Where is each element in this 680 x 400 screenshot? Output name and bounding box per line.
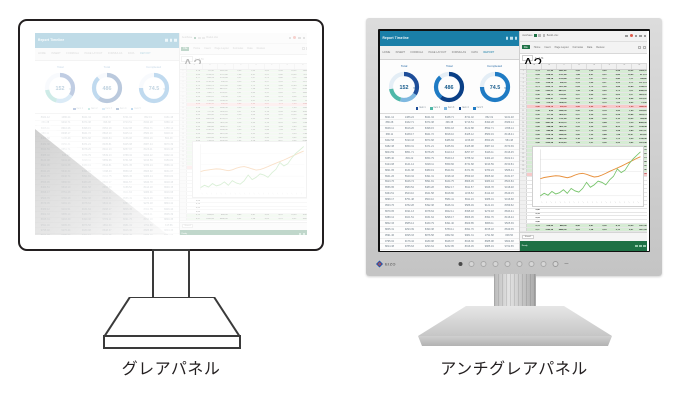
excel-cell[interactable]: 1927,57 (297, 126, 307, 128)
excel-cell[interactable]: 148,71 (201, 92, 215, 94)
dashboard-tab-4[interactable]: FORMULAS (108, 52, 122, 55)
excel-tab-page-layout[interactable]: Page Layout (215, 47, 229, 50)
ribbon-right-controls[interactable] (302, 47, 307, 50)
excel-cell[interactable]: 2,53 (242, 118, 256, 120)
excel-cell[interactable]: 1236,18 (541, 134, 554, 136)
dashboard-tab-1[interactable]: INSERT (396, 51, 405, 54)
osd-button-2[interactable] (481, 261, 487, 267)
excel-cell[interactable]: 0,74 (270, 96, 284, 98)
save-icon[interactable] (534, 34, 537, 37)
excel-cell[interactable]: 5,30 (621, 122, 634, 124)
excel-cell[interactable]: 2581,45 (215, 70, 229, 72)
excel-cell[interactable]: 0,30 (594, 118, 607, 120)
excel-cell[interactable]: 0,05 (594, 130, 607, 132)
excel-cell[interactable]: 588,14 (201, 77, 215, 79)
excel-cell[interactable]: 0,41 (242, 214, 256, 216)
excel-cell[interactable]: 1236,10 (541, 106, 554, 108)
share-icon[interactable] (638, 46, 641, 49)
excel-row-number[interactable]: 13 (180, 114, 187, 117)
excel-cell[interactable]: 0,31 (594, 94, 607, 96)
excel-cell[interactable]: 0,66 (187, 200, 201, 202)
excel-cell[interactable]: 0,62 (283, 137, 297, 139)
excel-cell[interactable]: 1371,79 (634, 82, 647, 84)
excel-cell[interactable]: 0,73 (527, 86, 540, 88)
excel-cell[interactable]: 0,30 (242, 111, 256, 113)
excel-cell[interactable]: 891,81 (297, 129, 307, 131)
minimize-icon[interactable] (165, 39, 168, 42)
osd-button-5[interactable] (517, 261, 523, 267)
excel-cell[interactable]: 0,66 (187, 88, 201, 90)
excel-cell[interactable]: 5,23 (567, 82, 580, 84)
excel-cell[interactable]: 0,28 (270, 111, 284, 113)
excel-cell[interactable]: 4419,57 (215, 88, 229, 90)
excel-cell[interactable]: 1050,91 (201, 96, 215, 98)
dashboard-window-controls[interactable] (506, 37, 518, 40)
view-break-icon[interactable] (643, 245, 646, 247)
excel-cell[interactable]: 0,27 (594, 82, 607, 84)
excel-cell[interactable]: 5,00 (228, 107, 242, 109)
excel-cell[interactable]: 1371,79 (297, 81, 307, 83)
excel-cell[interactable]: 0,66 (527, 209, 540, 211)
excel-cell[interactable]: 2,07 (567, 94, 580, 96)
excel-cell[interactable]: 1198,04 (297, 122, 307, 124)
excel-cell[interactable]: 0,15 (527, 213, 540, 215)
excel-cell[interactable]: 2,01 (228, 96, 242, 98)
excel-cell[interactable]: 1565,08 (541, 142, 554, 144)
excel-cell[interactable]: 1603,79 (634, 114, 647, 116)
excel-cell[interactable]: 0,77 (527, 78, 540, 80)
excel-row-number[interactable] (520, 205, 527, 208)
excel-cell[interactable]: 6,01 (621, 229, 634, 231)
excel-cell[interactable]: 3,54 (270, 126, 284, 128)
excel-row-number[interactable]: 15 (180, 121, 187, 124)
excel-cell[interactable]: 1515,91 (634, 98, 647, 100)
excel-cell[interactable]: 1602,63 (554, 114, 567, 116)
excel-cell[interactable]: 5,11 (621, 90, 634, 92)
excel-cell[interactable]: 5,00 (567, 110, 580, 112)
excel-cell[interactable]: 2,07 (228, 92, 242, 94)
excel-cell[interactable]: 1,90 (621, 110, 634, 112)
excel-cell[interactable]: 1363,01 (541, 90, 554, 92)
view-layout-icon[interactable] (303, 233, 306, 235)
excel-cell[interactable]: 0,56 (187, 92, 201, 94)
excel-cell[interactable]: 5,21 (228, 77, 242, 79)
excel-row-number[interactable] (180, 207, 187, 210)
excel-cell[interactable]: 1,07 (581, 78, 594, 80)
excel-cell[interactable]: 398,42 (297, 77, 307, 79)
excel-window-controls[interactable] (625, 34, 646, 37)
excel-cell[interactable]: 1481,54 (201, 118, 215, 120)
excel-cell[interactable]: 1136,39 (541, 82, 554, 84)
excel-cell[interactable]: 364,04 (634, 118, 647, 120)
excel-cell[interactable]: 1603,79 (297, 111, 307, 113)
excel-formula-bar[interactable]: A2 fx 0.74 (180, 55, 307, 64)
excel-row-number[interactable]: 15 (520, 125, 527, 128)
excel-cell[interactable]: 1,22 (242, 129, 256, 131)
excel-cell[interactable]: 117,30 (201, 111, 215, 113)
excel-row-number[interactable]: 16 (520, 129, 527, 132)
excel-row[interactable]: 0,271285,588646,582,011,540,035,126,0118… (520, 228, 647, 232)
excel-cell[interactable]: 5,07 (228, 111, 242, 113)
excel-cell[interactable]: 4,10 (270, 214, 284, 216)
excel-col-header-H[interactable]: H (295, 64, 307, 68)
excel-cell[interactable]: 1,11 (228, 118, 242, 120)
excel-cell[interactable]: 0,74 (527, 70, 540, 72)
minimize-icon[interactable] (635, 35, 637, 37)
excel-cell[interactable]: 1,01 (242, 137, 256, 139)
excel-cell[interactable]: 0,52 (187, 114, 201, 116)
excel-cell[interactable]: 2750,64 (215, 77, 229, 79)
excel-cell[interactable]: 2288,96 (215, 129, 229, 131)
excel-cell[interactable]: 12,07 (283, 129, 297, 131)
excel-row-number[interactable] (520, 209, 527, 212)
excel-cell[interactable]: 2,75 (607, 90, 620, 92)
excel-cell[interactable]: 4705,83 (554, 142, 567, 144)
excel-cell[interactable]: 3,03 (242, 107, 256, 109)
excel-row-number[interactable] (180, 218, 187, 221)
excel-tab-review[interactable]: Review (596, 46, 604, 49)
excel-cell[interactable]: 488,00 (541, 138, 554, 140)
excel-cell[interactable]: 0,06 (242, 114, 256, 116)
excel-cell[interactable]: 1,50 (283, 103, 297, 105)
excel-cell[interactable]: 0,15 (187, 203, 201, 205)
excel-cell[interactable]: 2,60 (567, 134, 580, 136)
excel-row-number[interactable]: 23 (520, 157, 527, 160)
excel-cell[interactable]: 1057,90 (297, 214, 307, 216)
excel-col-header-D[interactable]: D (572, 64, 587, 69)
excel-row-number[interactable]: 6 (520, 89, 527, 92)
excel-cell[interactable]: 7401,58 (554, 126, 567, 128)
excel-row-number[interactable]: 13 (520, 117, 527, 120)
sheet-tab[interactable]: Sheet1 (522, 235, 534, 239)
maximize-icon[interactable] (510, 37, 513, 40)
excel-cell[interactable]: 1786,08 (297, 133, 307, 135)
excel-cell[interactable]: 1791,68 (215, 114, 229, 116)
search-icon[interactable] (625, 35, 627, 37)
excel-row-number[interactable] (520, 216, 527, 219)
excel-row-number[interactable]: 22 (520, 153, 527, 156)
excel-col-header-D[interactable]: D (234, 64, 249, 68)
excel-cell[interactable]: 10,22 (283, 70, 297, 72)
excel-cell[interactable]: 0,26 (187, 111, 201, 113)
excel-row-number[interactable]: 27 (520, 173, 527, 176)
excel-cell[interactable]: 1565,08 (201, 137, 215, 139)
excel-cell[interactable]: 1602,63 (215, 111, 229, 113)
excel-cell[interactable]: 846,48 (201, 126, 215, 128)
excel-cell[interactable]: 4,45 (228, 214, 242, 216)
excel-cell[interactable]: 0,66 (187, 103, 201, 105)
share-icon[interactable] (302, 47, 305, 50)
excel-cell[interactable]: 0,58 (607, 70, 620, 72)
search-icon[interactable] (289, 37, 291, 39)
excel-cell[interactable]: 1903,81 (634, 110, 647, 112)
excel-cell[interactable]: 1,07 (242, 77, 256, 79)
excel-cell[interactable]: 0,65 (594, 90, 607, 92)
excel-row-number[interactable]: 24 (520, 161, 527, 164)
osd-button-1[interactable] (469, 261, 475, 267)
excel-cell[interactable]: 0,41 (581, 225, 594, 227)
undo-icon[interactable] (198, 37, 201, 40)
excel-col-header-G[interactable]: G (280, 64, 295, 68)
excel-tab-insert[interactable]: Insert (204, 47, 210, 50)
excel-cell[interactable]: 2812,58 (554, 138, 567, 140)
excel-cell[interactable]: 846,48 (541, 130, 554, 132)
excel-tab-home[interactable]: Home (194, 47, 201, 50)
excel-cell[interactable]: 0,40 (594, 98, 607, 100)
excel-cell[interactable]: 1,05 (242, 70, 256, 72)
excel-cell[interactable]: 4419,57 (554, 90, 567, 92)
excel-row-number[interactable] (180, 203, 187, 206)
excel-cell[interactable]: 588,14 (541, 78, 554, 80)
excel-cell[interactable]: 0,40 (607, 78, 620, 80)
excel-cell[interactable]: 0,28 (607, 114, 620, 116)
excel-cell[interactable]: 7,57 (270, 118, 284, 120)
excel-cell[interactable]: 0,51 (256, 74, 270, 76)
osd-button-4[interactable] (505, 261, 511, 267)
excel-cell[interactable]: 2,85 (228, 103, 242, 105)
excel-col-header-H[interactable]: H (632, 64, 647, 69)
excel-row-number[interactable]: 18 (520, 137, 527, 140)
excel-cell[interactable]: 0,50 (283, 122, 297, 124)
excel-cell[interactable]: 10,95 (621, 74, 634, 76)
excel-cell[interactable]: 1,88 (228, 74, 242, 76)
excel-cell[interactable]: 0,89 (527, 74, 540, 76)
excel-cell[interactable]: 6,91 (581, 74, 594, 76)
excel-cell[interactable]: 1,28 (567, 142, 580, 144)
excel-cell[interactable]: 844,04 (201, 122, 215, 124)
excel-cell[interactable]: 905,90 (201, 114, 215, 116)
comments-icon[interactable] (306, 47, 307, 50)
comments-icon[interactable] (643, 46, 646, 49)
excel-cell[interactable]: 0,65 (256, 88, 270, 90)
excel-cell[interactable]: 5,10 (607, 118, 620, 120)
excel-cell[interactable]: 1236,10 (201, 103, 215, 105)
excel-cell[interactable]: 4759,15 (554, 122, 567, 124)
excel-cell[interactable]: 1285,58 (541, 229, 554, 231)
excel-cell[interactable]: 0,86 (270, 74, 284, 76)
excel-row-number[interactable]: 21 (520, 149, 527, 152)
excel-row-number[interactable] (180, 184, 187, 187)
excel-row-number[interactable]: 12 (180, 110, 187, 113)
osd-button-6[interactable] (529, 261, 535, 267)
excel-cell[interactable]: 871,79 (634, 74, 647, 76)
excel-cell[interactable]: 1,28 (228, 137, 242, 139)
dashboard-tab-5[interactable]: DATA (128, 52, 135, 55)
excel-cell[interactable]: 2,53 (242, 133, 256, 135)
excel-col-header-B[interactable]: B (203, 64, 218, 68)
excel-row-number[interactable] (520, 201, 527, 204)
excel-cell[interactable]: 1504,35 (215, 100, 229, 102)
excel-cell[interactable]: 1,60 (242, 81, 256, 83)
excel-cell[interactable]: 0,66 (527, 142, 540, 144)
excel-cell[interactable]: 10,00 (621, 225, 634, 227)
excel-col-header-E[interactable]: E (587, 64, 602, 69)
excel-cell[interactable]: 0,45 (594, 138, 607, 140)
excel-cell[interactable]: 0,62 (270, 92, 284, 94)
excel-cell[interactable]: 0,84 (256, 118, 270, 120)
excel-cell[interactable]: 2,88 (607, 86, 620, 88)
excel-cell[interactable]: 0,50 (527, 82, 540, 84)
excel-row-number[interactable]: 2 (520, 74, 527, 77)
excel-cell[interactable]: 5,55 (607, 142, 620, 144)
excel-cell[interactable]: 5,12 (607, 229, 620, 231)
excel-cell[interactable]: 0,58 (187, 107, 201, 109)
excel-cell[interactable]: 0,44 (527, 102, 540, 104)
excel-cell[interactable]: 4,60 (541, 110, 554, 112)
excel-cell[interactable]: 8646,58 (215, 218, 229, 220)
view-layout-icon[interactable] (639, 245, 642, 247)
excel-embedded-chart[interactable]: ////////////////////// (192, 141, 307, 198)
excel-cell[interactable]: 0,12 (594, 86, 607, 88)
excel-col-header-A[interactable]: A (527, 64, 542, 69)
excel-cell[interactable]: 5,12 (270, 218, 284, 220)
excel-tab-formulas[interactable]: Formulas (233, 47, 243, 50)
excel-cell[interactable]: 7,57 (607, 122, 620, 124)
excel-cell[interactable]: 8,06 (283, 96, 297, 98)
excel-cell[interactable]: 1,79 (607, 106, 620, 108)
excel-cell[interactable]: 3,03 (581, 110, 594, 112)
excel-cell[interactable]: 2,16 (567, 138, 580, 140)
excel-cell[interactable]: 8985,05 (634, 122, 647, 124)
excel-cell[interactable]: 3,54 (607, 130, 620, 132)
excel-cell[interactable]: 2,53 (581, 138, 594, 140)
excel-cell[interactable]: 10,55 (283, 114, 297, 116)
excel-cell[interactable]: 5,65 (567, 70, 580, 72)
excel-row-number[interactable]: 10 (520, 105, 527, 108)
excel-cell[interactable]: 1,11 (567, 122, 580, 124)
excel-cell[interactable]: 4705,83 (215, 137, 229, 139)
excel-cell[interactable]: 1504,35 (554, 102, 567, 104)
excel-cell[interactable]: 0,77 (187, 77, 201, 79)
excel-cell[interactable]: 2150,67 (554, 94, 567, 96)
excel-cell[interactable]: 0,89 (187, 74, 201, 76)
excel-cell[interactable]: 854,65 (541, 225, 554, 227)
excel-cell[interactable]: 0,76 (594, 102, 607, 104)
excel-cell[interactable]: 1888,50 (634, 106, 647, 108)
dashboard-tab-1[interactable]: INSERT (51, 52, 60, 55)
excel-tab-formulas[interactable]: Formulas (573, 46, 583, 49)
dashboard-tab-6[interactable]: REPORT (140, 52, 151, 55)
excel-cell[interactable]: 10,95 (283, 74, 297, 76)
excel-formula-value[interactable]: 0.74 (539, 57, 544, 60)
excel-col-header-corner[interactable] (520, 64, 527, 69)
excel-cell[interactable]: 4,25 (607, 126, 620, 128)
excel-cell[interactable]: 0,65 (594, 70, 607, 72)
excel-cell[interactable]: 3,50 (607, 110, 620, 112)
excel-cell[interactable]: 4,25 (270, 122, 284, 124)
excel-cell[interactable]: 1453,31 (297, 92, 307, 94)
excel-row-number[interactable] (520, 189, 527, 192)
excel-cell[interactable]: 1788,19 (297, 85, 307, 87)
dashboard-tab-3[interactable]: PAGE LAYOUT (428, 51, 446, 54)
excel-cell[interactable]: 12,89 (283, 85, 297, 87)
excel-col-header-E[interactable]: E (249, 64, 264, 68)
excel-cell[interactable]: 0,53 (187, 207, 201, 209)
excel-cell[interactable]: 0,53 (527, 217, 540, 219)
excel-cell[interactable]: 0,58 (270, 70, 284, 72)
excel-cell[interactable]: 1057,90 (634, 225, 647, 227)
excel-cell[interactable]: 295,50 (215, 103, 229, 105)
excel-cell[interactable]: 2150,67 (215, 92, 229, 94)
dashboard-tab-4[interactable]: FORMULAS (452, 51, 466, 54)
excel-row-number[interactable]: 5 (180, 84, 187, 87)
excel-tab-home[interactable]: Home (534, 46, 541, 49)
excel-cell[interactable]: 4759,15 (215, 118, 229, 120)
excel-cell[interactable]: 1,50 (621, 106, 634, 108)
excel-row-number[interactable] (520, 185, 527, 188)
excel-cell[interactable]: 0,12 (256, 85, 270, 87)
excel-cell[interactable]: 2812,58 (215, 133, 229, 135)
excel-col-header-F[interactable]: F (265, 64, 280, 68)
excel-cell[interactable]: 1,24 (242, 88, 256, 90)
excel-cell[interactable]: 1,11 (283, 77, 297, 79)
excel-col-header-corner[interactable] (180, 64, 187, 68)
excel-cell[interactable]: 13,05 (634, 102, 647, 104)
excel-row-number[interactable]: 14 (180, 118, 187, 121)
excel-row-number[interactable]: 19 (180, 136, 187, 139)
excel-cell[interactable]: 1809,11 (297, 70, 307, 72)
excel-cell[interactable]: 1884,31 (554, 130, 567, 132)
excel-cell[interactable]: 2,90 (567, 118, 580, 120)
excel-row-number[interactable] (180, 181, 187, 184)
excel-cell[interactable]: 1154,53 (201, 74, 215, 76)
excel-cell[interactable]: 5,55 (270, 137, 284, 139)
excel-cell[interactable]: 0,68 (527, 134, 540, 136)
minimize-icon[interactable] (506, 37, 509, 40)
excel-cell[interactable]: 7,00 (270, 100, 284, 102)
excel-row-number[interactable] (180, 177, 187, 180)
excel-cell[interactable]: 0,40 (270, 77, 284, 79)
excel-cell[interactable]: 1,12 (242, 126, 256, 128)
excel-cell[interactable]: 6,91 (242, 74, 256, 76)
excel-cell[interactable]: 1,60 (581, 82, 594, 84)
excel-cell[interactable]: 488,00 (201, 133, 215, 135)
excel-cell[interactable]: 0,18 (594, 126, 607, 128)
view-normal-icon[interactable] (635, 245, 638, 247)
excel-row-number[interactable]: 25 (520, 165, 527, 168)
excel-quick-access-toolbar[interactable]: AutoSave Book1.xlsx (180, 33, 307, 44)
excel-row-number[interactable]: 17 (180, 129, 187, 132)
excel-name-box[interactable]: A2 (522, 55, 533, 61)
excel-cell[interactable]: 0,50 (187, 96, 201, 98)
excel-cell[interactable]: 2,65 (581, 94, 594, 96)
excel-cell[interactable]: 7,00 (607, 102, 620, 104)
excel-row-number[interactable]: 20 (180, 140, 187, 143)
excel-cell[interactable]: 0,73 (187, 85, 201, 87)
excel-cell[interactable]: 1236,18 (201, 129, 215, 131)
excel-cell[interactable]: 1,58 (567, 90, 580, 92)
excel-cell[interactable]: 0,30 (581, 114, 594, 116)
excel-sheet-tabs[interactable]: Sheet1 (180, 222, 307, 230)
excel-cell[interactable]: 2,25 (270, 81, 284, 83)
dashboard-tab-0[interactable]: HOME (38, 52, 46, 55)
excel-cell[interactable]: 2,21 (581, 98, 594, 100)
excel-cell[interactable]: 0,55 (187, 133, 201, 135)
excel-row-number[interactable]: 11 (520, 109, 527, 112)
excel-cell[interactable]: 1453,31 (634, 94, 647, 96)
excel-formula-value[interactable]: 0.74 (199, 58, 204, 61)
excel-row-number[interactable]: 8 (180, 96, 187, 99)
excel-cell[interactable]: 2,53 (581, 122, 594, 124)
dashboard-tab-6[interactable]: REPORT (483, 51, 494, 54)
excel-tab-page-layout[interactable]: Page Layout (555, 46, 569, 49)
dashboard-tab-2[interactable]: FORMULA (410, 51, 423, 54)
excel-cell[interactable]: 0,74 (187, 70, 201, 72)
excel-row-number[interactable]: 12 (520, 113, 527, 116)
excel-cell[interactable]: 2,90 (228, 114, 242, 116)
excel-row-number[interactable]: 11 (180, 107, 187, 110)
excel-cell[interactable]: 2,71 (621, 82, 634, 84)
